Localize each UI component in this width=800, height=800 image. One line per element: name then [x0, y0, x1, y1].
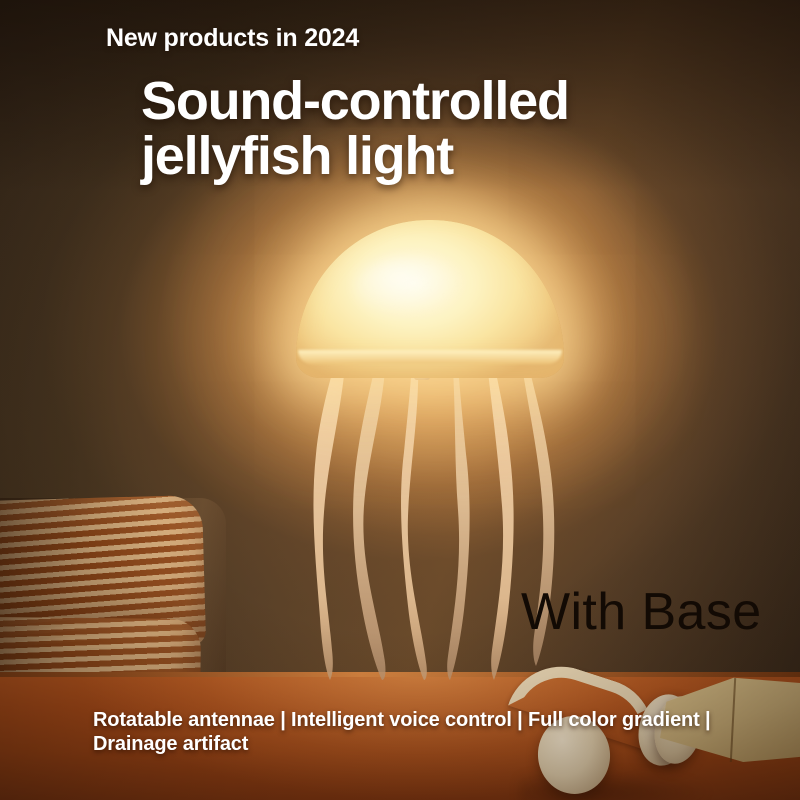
headline-line-2: jellyfish light	[141, 129, 569, 184]
advertisement-poster: New products in 2024 Sound-controlled je…	[0, 0, 800, 800]
product-headline: Sound-controlled jellyfish light	[141, 74, 569, 184]
headline-line-1: Sound-controlled	[141, 71, 569, 131]
feature-list-text: Rotatable antennae | Intelligent voice c…	[93, 708, 773, 757]
dome-bottom-rim-glow	[298, 350, 562, 364]
dome-highlight	[354, 256, 466, 318]
eyebrow-text: New products in 2024	[106, 24, 359, 53]
with-base-label: With Base	[521, 582, 762, 642]
